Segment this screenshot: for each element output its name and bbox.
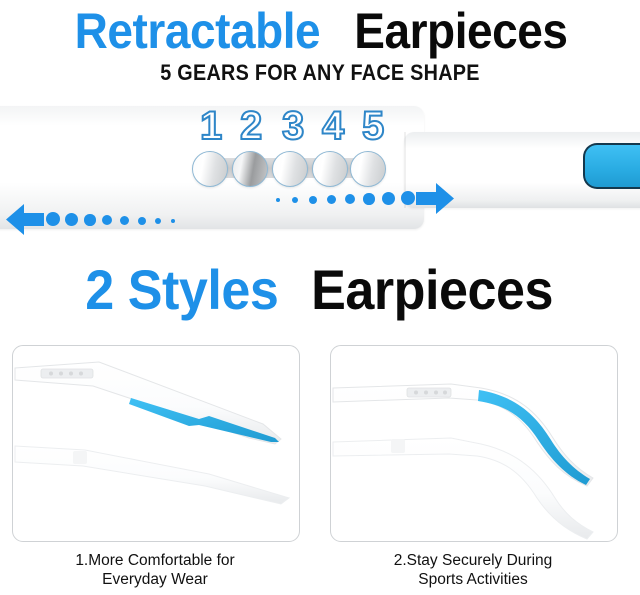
trail-dot-l4 — [102, 215, 112, 225]
gear-number-1: 1 — [200, 106, 222, 146]
gear-number-2: 2 — [240, 106, 262, 146]
hero-headline-blue: Retractable — [74, 6, 319, 56]
styles-headline: 2 StylesEarpieces — [0, 262, 640, 318]
gear-detent-5 — [350, 151, 386, 187]
style-card-curved[interactable] — [330, 345, 618, 542]
gear-number-4: 4 — [322, 106, 344, 146]
straight-earpiece-icon — [13, 346, 299, 541]
arrow-left-icon — [6, 204, 44, 236]
trail-dot-l8 — [171, 219, 175, 223]
styles-headline-black: Earpieces — [311, 262, 553, 318]
caption-curved-line2: Sports Activities — [330, 570, 616, 589]
gear-detent-3 — [272, 151, 308, 187]
trail-dot-r3 — [309, 196, 317, 204]
gear-detent-2 — [232, 151, 268, 187]
trail-dot-r6 — [363, 193, 375, 205]
gear-number-5: 5 — [362, 106, 384, 146]
trail-dot-l6 — [138, 217, 146, 225]
trail-dot-r2 — [292, 197, 298, 203]
gear-number-3: 3 — [282, 106, 304, 146]
trail-dot-l5 — [120, 216, 129, 225]
caption-curved: 2.Stay Securely During Sports Activities — [330, 551, 616, 590]
caption-straight: 1.More Comfortable for Everyday Wear — [12, 551, 298, 590]
hero-headline: RetractableEarpieces — [0, 6, 640, 56]
trail-dot-l3 — [84, 214, 96, 226]
hero-subheadline: 5 GEARS FOR ANY FACE SHAPE — [32, 60, 608, 86]
caption-curved-line1: 2.Stay Securely During — [330, 551, 616, 570]
gear-detent-1 — [192, 151, 228, 187]
trail-dot-r5 — [345, 194, 355, 204]
arrow-right-icon — [416, 183, 454, 215]
product-infographic: RetractableEarpieces 5 GEARS FOR ANY FAC… — [0, 0, 640, 595]
trail-dot-r8 — [401, 191, 415, 205]
trail-dot-r1 — [276, 198, 280, 202]
trail-dot-l2 — [65, 213, 78, 226]
caption-straight-line1: 1.More Comfortable for — [12, 551, 298, 570]
styles-headline-blue: 2 Styles — [85, 262, 278, 318]
trail-dot-l1 — [46, 212, 60, 226]
gear-number-row: 1 2 3 4 5 — [196, 106, 386, 150]
hero-temple-illustration: 1 2 3 4 5 — [0, 96, 640, 246]
trail-dot-r7 — [382, 192, 395, 205]
trail-dot-l7 — [155, 218, 161, 224]
caption-straight-line2: Everyday Wear — [12, 570, 298, 589]
curved-earpiece-icon — [331, 346, 617, 541]
temple-tip-icon — [583, 143, 640, 189]
hero-headline-black: Earpieces — [354, 6, 567, 56]
gear-detent-4 — [312, 151, 348, 187]
trail-dot-r4 — [327, 195, 336, 204]
style-card-straight[interactable] — [12, 345, 300, 542]
